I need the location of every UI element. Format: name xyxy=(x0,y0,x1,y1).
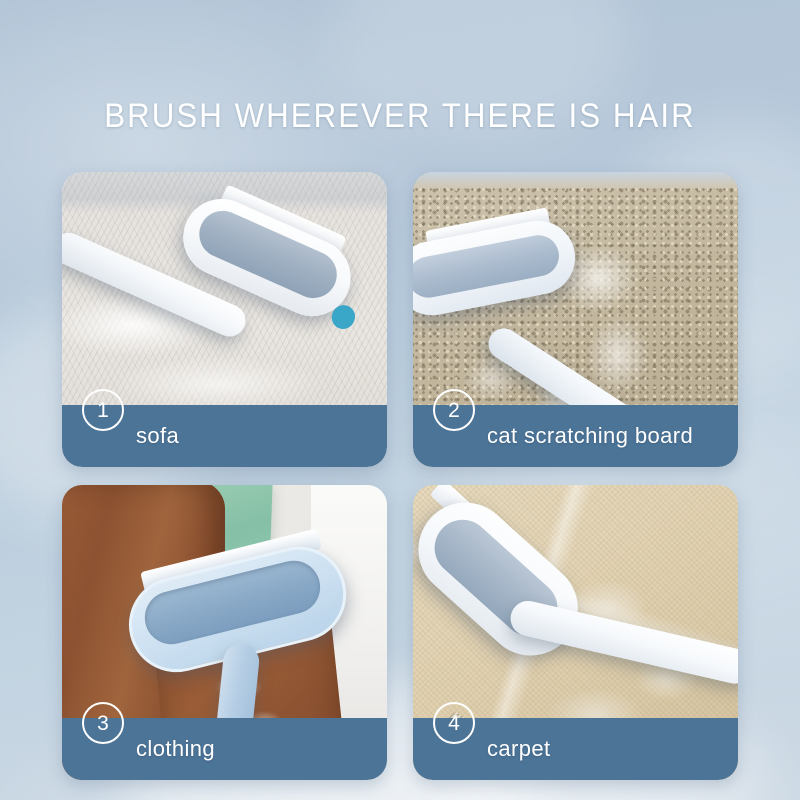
panel-number-badge: 2 xyxy=(433,389,475,431)
panel-caption-bar: 2 cat scratching board xyxy=(413,405,738,467)
panel-label: clothing xyxy=(136,736,215,762)
panel-caption-bar: 4 carpet xyxy=(413,718,738,780)
panel-caption-bar: 1 sofa xyxy=(62,405,387,467)
poster-canvas: BRUSH WHEREVER THERE IS HAIR 1 sofa xyxy=(0,0,800,800)
panel-label: carpet xyxy=(487,736,551,762)
panel-card-clothing[interactable]: 3 clothing xyxy=(62,485,387,780)
panel-number-badge: 1 xyxy=(82,389,124,431)
panel-caption-bar: 3 clothing xyxy=(62,718,387,780)
panel-grid: 1 sofa 2 cat scratching board xyxy=(62,172,738,780)
panel-label: sofa xyxy=(136,423,179,449)
panel-label: cat scratching board xyxy=(487,423,693,449)
poster-headline: BRUSH WHEREVER THERE IS HAIR xyxy=(32,96,768,136)
panel-number-badge: 4 xyxy=(433,702,475,744)
panel-card-sofa[interactable]: 1 sofa xyxy=(62,172,387,467)
panel-card-carpet[interactable]: 4 carpet xyxy=(413,485,738,780)
panel-number-badge: 3 xyxy=(82,702,124,744)
panel-card-cat-scratching-board[interactable]: 2 cat scratching board xyxy=(413,172,738,467)
